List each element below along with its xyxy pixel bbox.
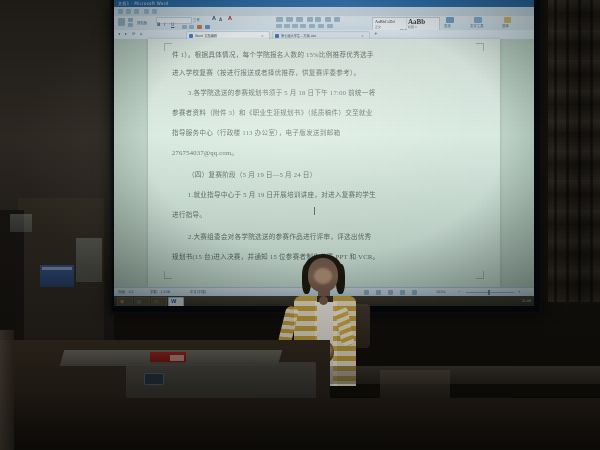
doc-line-2: 3.各学院选送的参赛规划书须于 5 月 18 日下午 17:00 前统一将	[188, 87, 494, 97]
zoom-slider[interactable]	[466, 292, 514, 293]
doc-line-4: 指导服务中心（行政楼 113 办公室），电子版发送到邮箱	[172, 127, 478, 137]
quick-access-toolbar[interactable]	[114, 7, 534, 16]
style-name-heading1: 标题 1	[408, 25, 417, 29]
doc-line-8: 进行指导。	[172, 209, 478, 219]
show-marks-icon[interactable]	[334, 17, 340, 22]
forward-icon[interactable]: ▸	[125, 32, 127, 36]
folder-taskbar-icon[interactable]: ▭	[151, 297, 167, 306]
font-color-icon[interactable]	[197, 25, 202, 29]
editing-label: 文字工具	[470, 24, 484, 28]
doc-line-7: 1.就业指导中心于 5 月 19 日开展培训讲座，对进入复赛的学生	[188, 189, 494, 199]
text-cursor	[314, 207, 315, 215]
sort-icon[interactable]	[325, 17, 331, 22]
doc-line-3: 参赛者资料（附件 3）和《职业生涯规划书》（纸质稿件）交至就业	[172, 107, 478, 117]
justify-icon[interactable]	[300, 24, 306, 28]
cut-icon[interactable]	[128, 18, 133, 22]
classroom-photo: 文档1 - Microsoft Word 剪贴板	[0, 0, 600, 450]
select-label: 选择	[502, 24, 509, 28]
doc-line-0: 件 1）。根据具体情况，每个学院报名人数的 15%比例推荐优秀选手	[172, 49, 478, 59]
change-styles-icon[interactable]	[446, 17, 454, 23]
side-table-edge	[330, 366, 600, 384]
style-sample-normal: AaBbCcDd	[375, 19, 395, 24]
wall-poster-pale	[76, 238, 102, 282]
tab-close-icon-1[interactable]: ×	[361, 33, 364, 39]
subscript-icon[interactable]	[182, 25, 187, 29]
style-chip-heading1[interactable]: AaBb 标题 1	[406, 18, 439, 29]
underline-icon[interactable]: U	[171, 24, 174, 28]
home-icon[interactable]: ⌂	[140, 32, 143, 36]
crop-mark-bottom-left	[164, 271, 172, 279]
doc-favicon	[275, 34, 279, 38]
font-size-value: 三号	[193, 18, 200, 22]
tab-close-icon-0[interactable]: ×	[261, 33, 264, 39]
paste-icon[interactable]	[118, 18, 125, 26]
italic-icon[interactable]: I	[164, 24, 165, 28]
redo-icon[interactable]	[134, 9, 139, 14]
numbering-icon[interactable]	[286, 17, 293, 22]
outline-view-icon[interactable]	[400, 290, 405, 295]
doc-line-6: （四）复赛阶段（5 月 19 日—5 月 24 日）	[188, 169, 494, 179]
find-icon[interactable]	[474, 17, 482, 23]
firefox-glyph: ◉	[120, 299, 124, 305]
new-tab-button[interactable]: +	[374, 32, 378, 38]
document-canvas[interactable]: 件 1）。根据具体情况，每个学院报名人数的 15%比例推荐优秀选手 进入学校复赛…	[114, 39, 534, 287]
format-painter-icon[interactable]	[152, 9, 157, 14]
poster-header-bar	[42, 267, 72, 270]
decrease-indent-icon[interactable]	[307, 17, 313, 22]
superscript-icon[interactable]	[189, 25, 194, 29]
folder-glyph: ▭	[154, 299, 159, 305]
paragraph-group[interactable]	[276, 17, 368, 29]
shrink-font-icon[interactable]: A	[219, 18, 222, 22]
save-icon[interactable]	[118, 9, 123, 14]
word-favicon	[189, 34, 193, 38]
select-icon[interactable]	[504, 17, 511, 23]
draft-view-icon[interactable]	[412, 290, 417, 295]
document-page[interactable]: 件 1）。根据具体情况，每个学院报名人数的 15%比例推荐优秀选手 进入学校复赛…	[148, 39, 500, 287]
presenter-face	[314, 268, 332, 284]
red-box-panel	[170, 355, 184, 361]
line-spacing-icon[interactable]	[309, 24, 315, 28]
text-effects-icon[interactable]	[205, 25, 210, 29]
tab-label-0: Word 文档编辑	[195, 33, 217, 39]
change-styles-label: 查找	[444, 24, 451, 28]
editing-group[interactable]: 查找 文字工具 选择	[444, 17, 530, 29]
browser-glyph: ◎	[137, 299, 141, 305]
bullets-icon[interactable]	[276, 17, 283, 22]
align-center-icon[interactable]	[284, 24, 290, 28]
zoom-slider-knob[interactable]	[488, 290, 490, 295]
print-icon[interactable]	[144, 9, 149, 14]
align-left-icon[interactable]	[276, 24, 282, 28]
wall-notice-small	[10, 214, 32, 232]
presenter-right-hand	[319, 296, 328, 305]
font-name-box[interactable]	[156, 17, 192, 24]
clipboard-label: 剪贴板	[137, 21, 147, 25]
web-view-icon[interactable]	[388, 290, 393, 295]
tab-label-1: 第七届大学生…方案.doc	[281, 33, 316, 39]
word-glyph: W	[171, 299, 177, 305]
refresh-icon[interactable]: ⟳	[132, 32, 135, 36]
crop-mark-top-left	[164, 43, 172, 51]
shading-icon[interactable]	[318, 24, 324, 28]
align-right-icon[interactable]	[292, 24, 298, 28]
doc-line-1: 进入学校复赛（按进行报送或者择优推荐，供复赛评委参考）。	[172, 67, 478, 77]
crop-mark-bottom-right	[476, 271, 484, 279]
style-name-normal: 正文	[375, 25, 381, 29]
window-title: 文档1 - Microsoft Word	[118, 0, 168, 7]
multilevel-list-icon[interactable]	[296, 17, 303, 22]
word-title-bar: 文档1 - Microsoft Word	[114, 0, 534, 7]
reading-view-icon[interactable]	[376, 290, 381, 295]
undo-icon[interactable]	[126, 9, 131, 14]
firefox-taskbar-icon[interactable]: ◉	[117, 297, 133, 306]
taskbar-clock: 21:06	[522, 296, 531, 306]
increase-indent-icon[interactable]	[315, 17, 321, 22]
browser-taskbar-icon[interactable]: ◎	[134, 297, 150, 306]
projector-lens	[144, 373, 164, 385]
word-taskbar-icon[interactable]: W	[168, 297, 184, 306]
grow-font-icon[interactable]: A	[212, 17, 216, 21]
style-chip-normal[interactable]: AaBbCcDd 正文	[373, 18, 407, 29]
word-ribbon[interactable]: 剪贴板 三号 A A A B I U	[114, 16, 534, 31]
wall-poster-blue	[40, 265, 74, 287]
door-curtain	[548, 0, 600, 302]
font-group[interactable]: 三号 A A A B I U	[156, 17, 272, 29]
clipboard-group[interactable]: 剪贴板	[117, 17, 153, 29]
doc-line-9: 2.大赛组委会对各学院选送的参赛作品进行评审，评选出优秀	[188, 231, 494, 241]
back-icon[interactable]: ◂	[118, 32, 120, 36]
wall-pillar	[0, 330, 14, 450]
borders-icon[interactable]	[327, 24, 333, 28]
text-highlight-icon[interactable]: A	[228, 17, 232, 21]
copy-icon[interactable]	[128, 23, 133, 27]
side-table	[380, 370, 450, 400]
bold-icon[interactable]: B	[157, 24, 161, 28]
desk-front-panel	[0, 398, 600, 450]
doc-line-5: 276754037@qq.com。	[172, 147, 478, 157]
